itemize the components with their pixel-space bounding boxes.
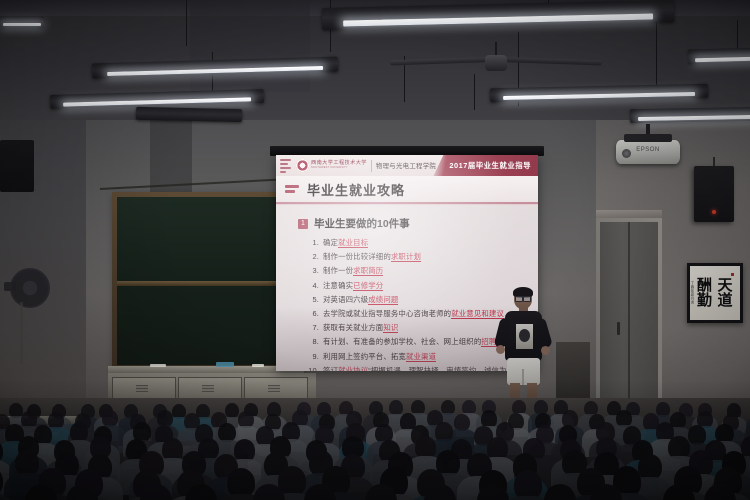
lecture-hall-photo: EPSON (0, 0, 750, 500)
blackboard (112, 192, 300, 370)
ceiling-fan (390, 42, 602, 74)
ceiling-light (136, 107, 242, 122)
blackboard-divider (117, 281, 295, 286)
calligraphy-signature: 丁酉年夏月書 (690, 281, 695, 304)
slide-list-item: 3.制作一份求职简历 (306, 265, 530, 276)
section-number-badge: 1 (298, 219, 308, 229)
calligraphy-col-left: 酬勤 (697, 278, 717, 307)
slide-list-item-text: 去学院或就业指导服务中心咨询老师的就业意见和建议 (323, 308, 504, 319)
slide-list-item-text: 对英语四六级成绩问题 (323, 294, 398, 305)
ceiling-light (688, 47, 750, 65)
presenter (496, 288, 550, 410)
section-heading: 毕业生要做的10件事 (314, 216, 410, 231)
cabinet-vent (202, 385, 214, 392)
university-name-en: SOUTHWEST UNIVERSITY (311, 167, 367, 170)
slide-banner-text: 2017届毕业生就业指导 (449, 160, 531, 171)
slide-list-item-index: 7. (306, 323, 319, 332)
slide-list-item-index: 4. (306, 281, 319, 290)
slide-list-item-text: 获取有关就业方面知识 (323, 322, 398, 333)
chalk-tray (108, 366, 304, 373)
slide-list-item-highlight: 已修学分 (353, 281, 383, 291)
cabinet-vent (136, 385, 148, 392)
title-marker-decoration (285, 185, 299, 193)
slide-list-item-pre: 确定 (323, 238, 338, 247)
header-divider (371, 160, 372, 172)
projector-arms (624, 134, 673, 142)
light-wire (186, 0, 187, 46)
light-wire (474, 74, 475, 110)
slide-list-item-text: 制作一份比较详细的求职计划 (323, 251, 421, 262)
projector: EPSON (616, 140, 680, 164)
slide-list-item-highlight: 成绩问题 (368, 295, 398, 305)
slide-banner: 2017届毕业生就业指导 (433, 155, 538, 176)
ceiling-light (630, 107, 750, 123)
slide-list-item-text: 签订就业协议“把握机遇、理智抉择、审慎签约、诚信为本” (323, 365, 517, 371)
chalk-piece (252, 364, 264, 367)
slide-list-item-pre: 利用网上签约平台、拓宽 (323, 352, 406, 361)
chalk-piece (150, 364, 166, 367)
title-rule-secondary (276, 204, 538, 205)
university-logo-text: 西南大学工程技术大学 SOUTHWEST UNIVERSITY (311, 161, 367, 169)
ceiling-beam (190, 0, 310, 92)
slide-list-item-text: 注意确实已修学分 (323, 280, 383, 291)
slide-list-item-pre: 有计划、有准备的参加学校、社会、网上组织的 (323, 337, 481, 346)
slide-list-item-text: 确定就业目标 (323, 237, 368, 248)
slide-list-item-pre: 制作一份 (323, 266, 353, 275)
slide-list-item-index: 8. (306, 337, 319, 346)
slide-list-item-index: 1. (306, 238, 319, 247)
college-name: 物理与光电工程学院 (376, 161, 436, 170)
audience-head (514, 470, 542, 500)
slide-title-bar: 毕业生就业攻略 (276, 176, 538, 202)
presenter-shorts (507, 358, 540, 385)
projector-brand-label: EPSON (616, 147, 680, 153)
wall-speaker-left (0, 140, 34, 192)
slide-list-item-pre: 签订 (323, 366, 338, 371)
calligraphy-frame: 丁酉年夏月書 酬勤 天道 (687, 263, 743, 323)
presenter-shirt-graphic (516, 324, 533, 349)
slide-header: 西南大学工程技术大学 SOUTHWEST UNIVERSITY 物理与光电工程学… (276, 155, 538, 176)
calligraphy-columns: 酬勤 天道 (697, 278, 737, 307)
slide-list-item-highlight: 求职计划 (391, 252, 421, 262)
section-heading-row: 1 毕业生要做的10件事 (298, 216, 410, 231)
slide-list-item-pre: 去学院或就业指导服务中心咨询老师的 (323, 309, 451, 318)
slide-list-item-index: 6. (306, 309, 319, 318)
cabinet-vent (268, 385, 280, 392)
calligraphy-col-right: 天道 (718, 278, 738, 307)
podium (556, 342, 590, 400)
slide-list-item-highlight: 就业渠道 (406, 352, 436, 362)
slide-list-item-index: 9. (306, 352, 319, 361)
slide-list-item-index: 5. (306, 295, 319, 304)
slide-list-item-pre: 对英语四六级 (323, 295, 368, 304)
presenter-glasses (515, 296, 531, 300)
presenter-hand-left (496, 345, 505, 354)
audience-head (481, 410, 497, 427)
audience-head (70, 422, 88, 442)
slide-list-item-highlight: 知识 (383, 323, 398, 333)
speaker-led-indicator (712, 210, 716, 214)
slide-list-item-pre: 获取有关就业方面 (323, 323, 383, 332)
slide-list-item-highlight: 就业协议 (338, 366, 368, 371)
slide-list-item-index: 2. (306, 252, 319, 261)
slide-list-item-highlight: 求职简历 (353, 266, 383, 276)
presenter-hand-right (541, 346, 550, 355)
slide-list-item: 2.制作一份比较详细的求职计划 (306, 251, 530, 262)
light-wire (656, 14, 657, 88)
slide-title: 毕业生就业攻略 (307, 180, 405, 199)
slide-list-item-highlight: 就业目标 (338, 238, 368, 248)
slide-list-item-pre: 制作一份比较详细的 (323, 252, 391, 261)
slide-list-item: 1.确定就业目标 (306, 237, 530, 248)
university-seal-icon (296, 159, 309, 172)
wall-fan (4, 268, 46, 310)
slide-list-item-pre: 注意确实 (323, 281, 353, 290)
eraser (216, 362, 234, 367)
calligraphy-seal (731, 273, 734, 276)
ceiling-light (0, 16, 44, 28)
slide-list-item-post: “把握机遇、理智抉择、审慎签约、诚信为本” (368, 366, 517, 371)
audience-head (227, 468, 255, 498)
door-handle[interactable] (617, 322, 620, 335)
calligraphy-mat: 丁酉年夏月書 酬勤 天道 (690, 266, 740, 320)
slide-list-item-text: 制作一份求职简历 (323, 265, 383, 276)
slide-list-item-text: 利用网上签约平台、拓宽就业渠道 (323, 351, 436, 362)
door-split-line (628, 222, 630, 416)
slide-list-item-index: 10. (306, 366, 319, 371)
wall-speaker-right (694, 166, 734, 222)
slide-list-item-index: 3. (306, 266, 319, 275)
header-ticks-decoration (280, 159, 293, 173)
